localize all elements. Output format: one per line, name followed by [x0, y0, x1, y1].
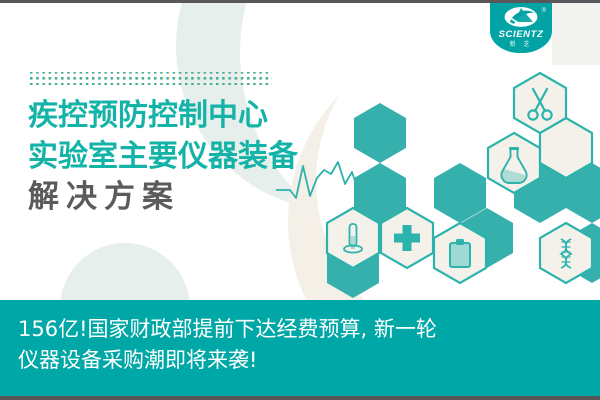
- registered-mark: ®: [542, 8, 546, 14]
- headline-line-2: 实验室主要仪器装备: [28, 136, 298, 177]
- banner-line-1: 156亿!国家财政部提前下达经费预算, 新一轮: [18, 314, 582, 345]
- brand-logo: ® SCIENTZ 新 芝: [490, 3, 552, 53]
- poster-root: ® SCIENTZ 新 芝 疾控预防控制中心 实验室主要仪器装备 解决方案: [0, 0, 600, 400]
- headline-line-1: 疾控预防控制中心: [28, 95, 298, 136]
- logo-subtitle: 新 芝: [490, 39, 552, 48]
- bottom-banner: 156亿!国家财政部提前下达经费预算, 新一轮 仪器设备采购潮即将来袭!: [0, 300, 600, 396]
- headline-block: 疾控预防控制中心 实验室主要仪器装备 解决方案: [28, 95, 298, 218]
- headline-line-3: 解决方案: [28, 177, 298, 218]
- logo-backing-plate: [552, 3, 600, 65]
- banner-line-2: 仪器设备采购潮即将来袭!: [18, 345, 582, 376]
- clipboard-icon: [450, 239, 470, 267]
